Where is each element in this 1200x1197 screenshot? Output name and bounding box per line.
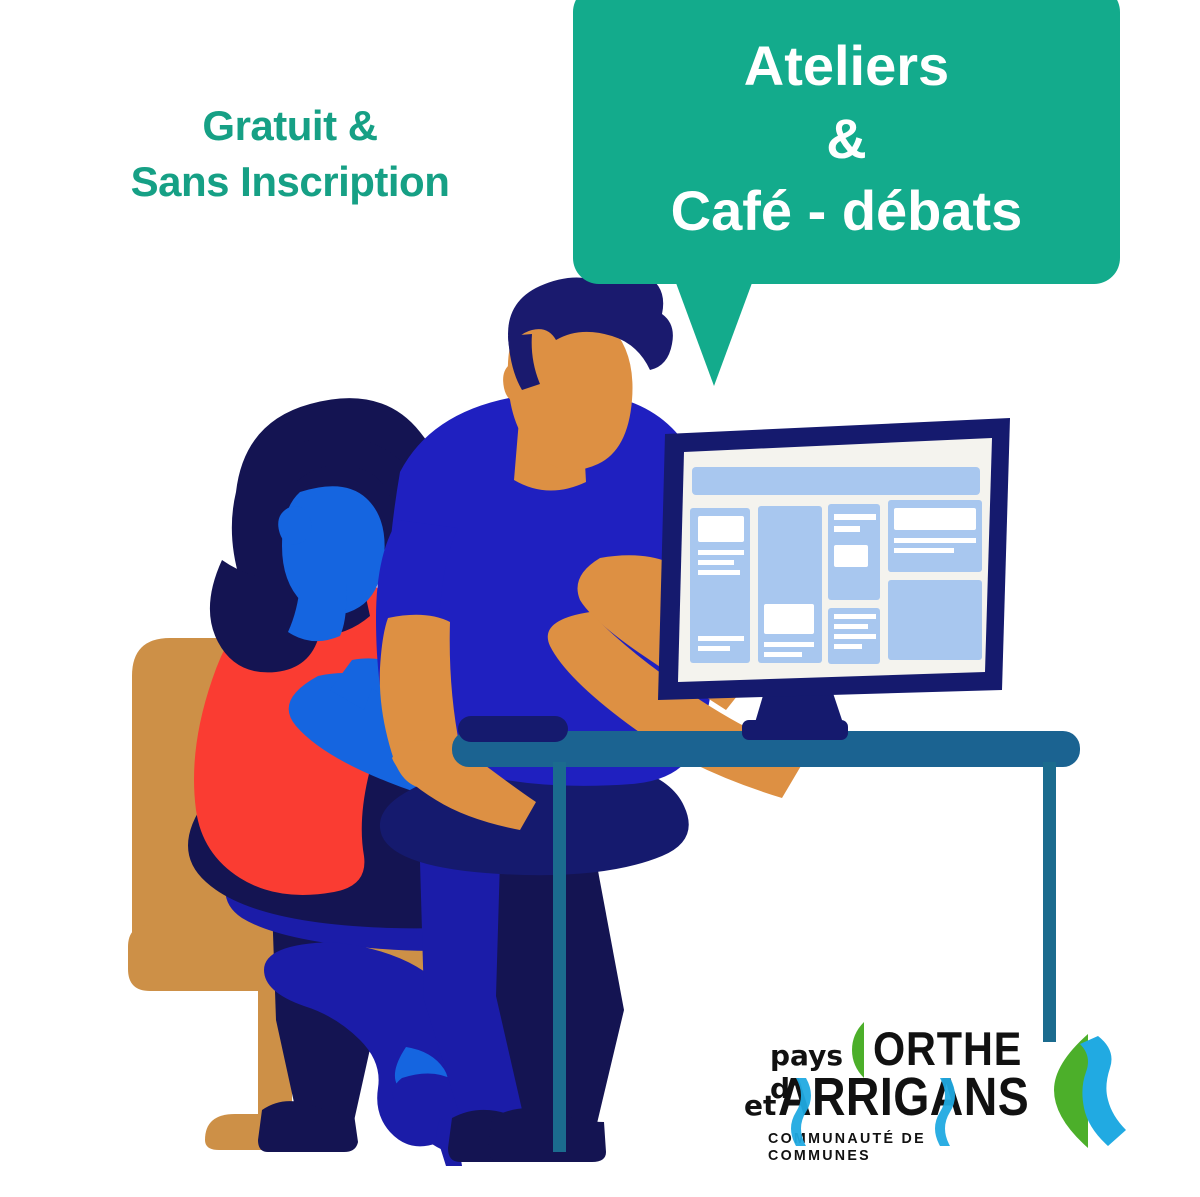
computer-mouse (458, 716, 568, 742)
speech-bubble-text: Ateliers & Café - débats (671, 22, 1023, 248)
logo-wordmark: pays d' ORTHE et ARRIGANS COMMUNAUTÉ DE … (752, 1008, 1042, 1158)
logo-et-prefix: et (744, 1089, 776, 1122)
logo-arrigans-word: ARRIGANS (778, 1066, 1029, 1128)
speech-bubble: Ateliers & Café - débats (573, 0, 1120, 284)
logo-mark (1040, 1016, 1190, 1166)
computer-monitor (658, 418, 1010, 740)
poster-canvas: Gratuit & Sans Inscription Ateliers & Ca… (0, 0, 1200, 1197)
logo-pays-dorthe-et-arrigans: pays d' ORTHE et ARRIGANS COMMUNAUTÉ DE … (752, 1008, 1192, 1168)
logo-tagline: COMMUNAUTÉ DE COMMUNES (768, 1130, 1028, 1164)
logo-line-2: et ARRIGANS (744, 1066, 1070, 1128)
tagline: Gratuit & Sans Inscription (60, 98, 520, 210)
speech-bubble-tail (676, 283, 752, 386)
